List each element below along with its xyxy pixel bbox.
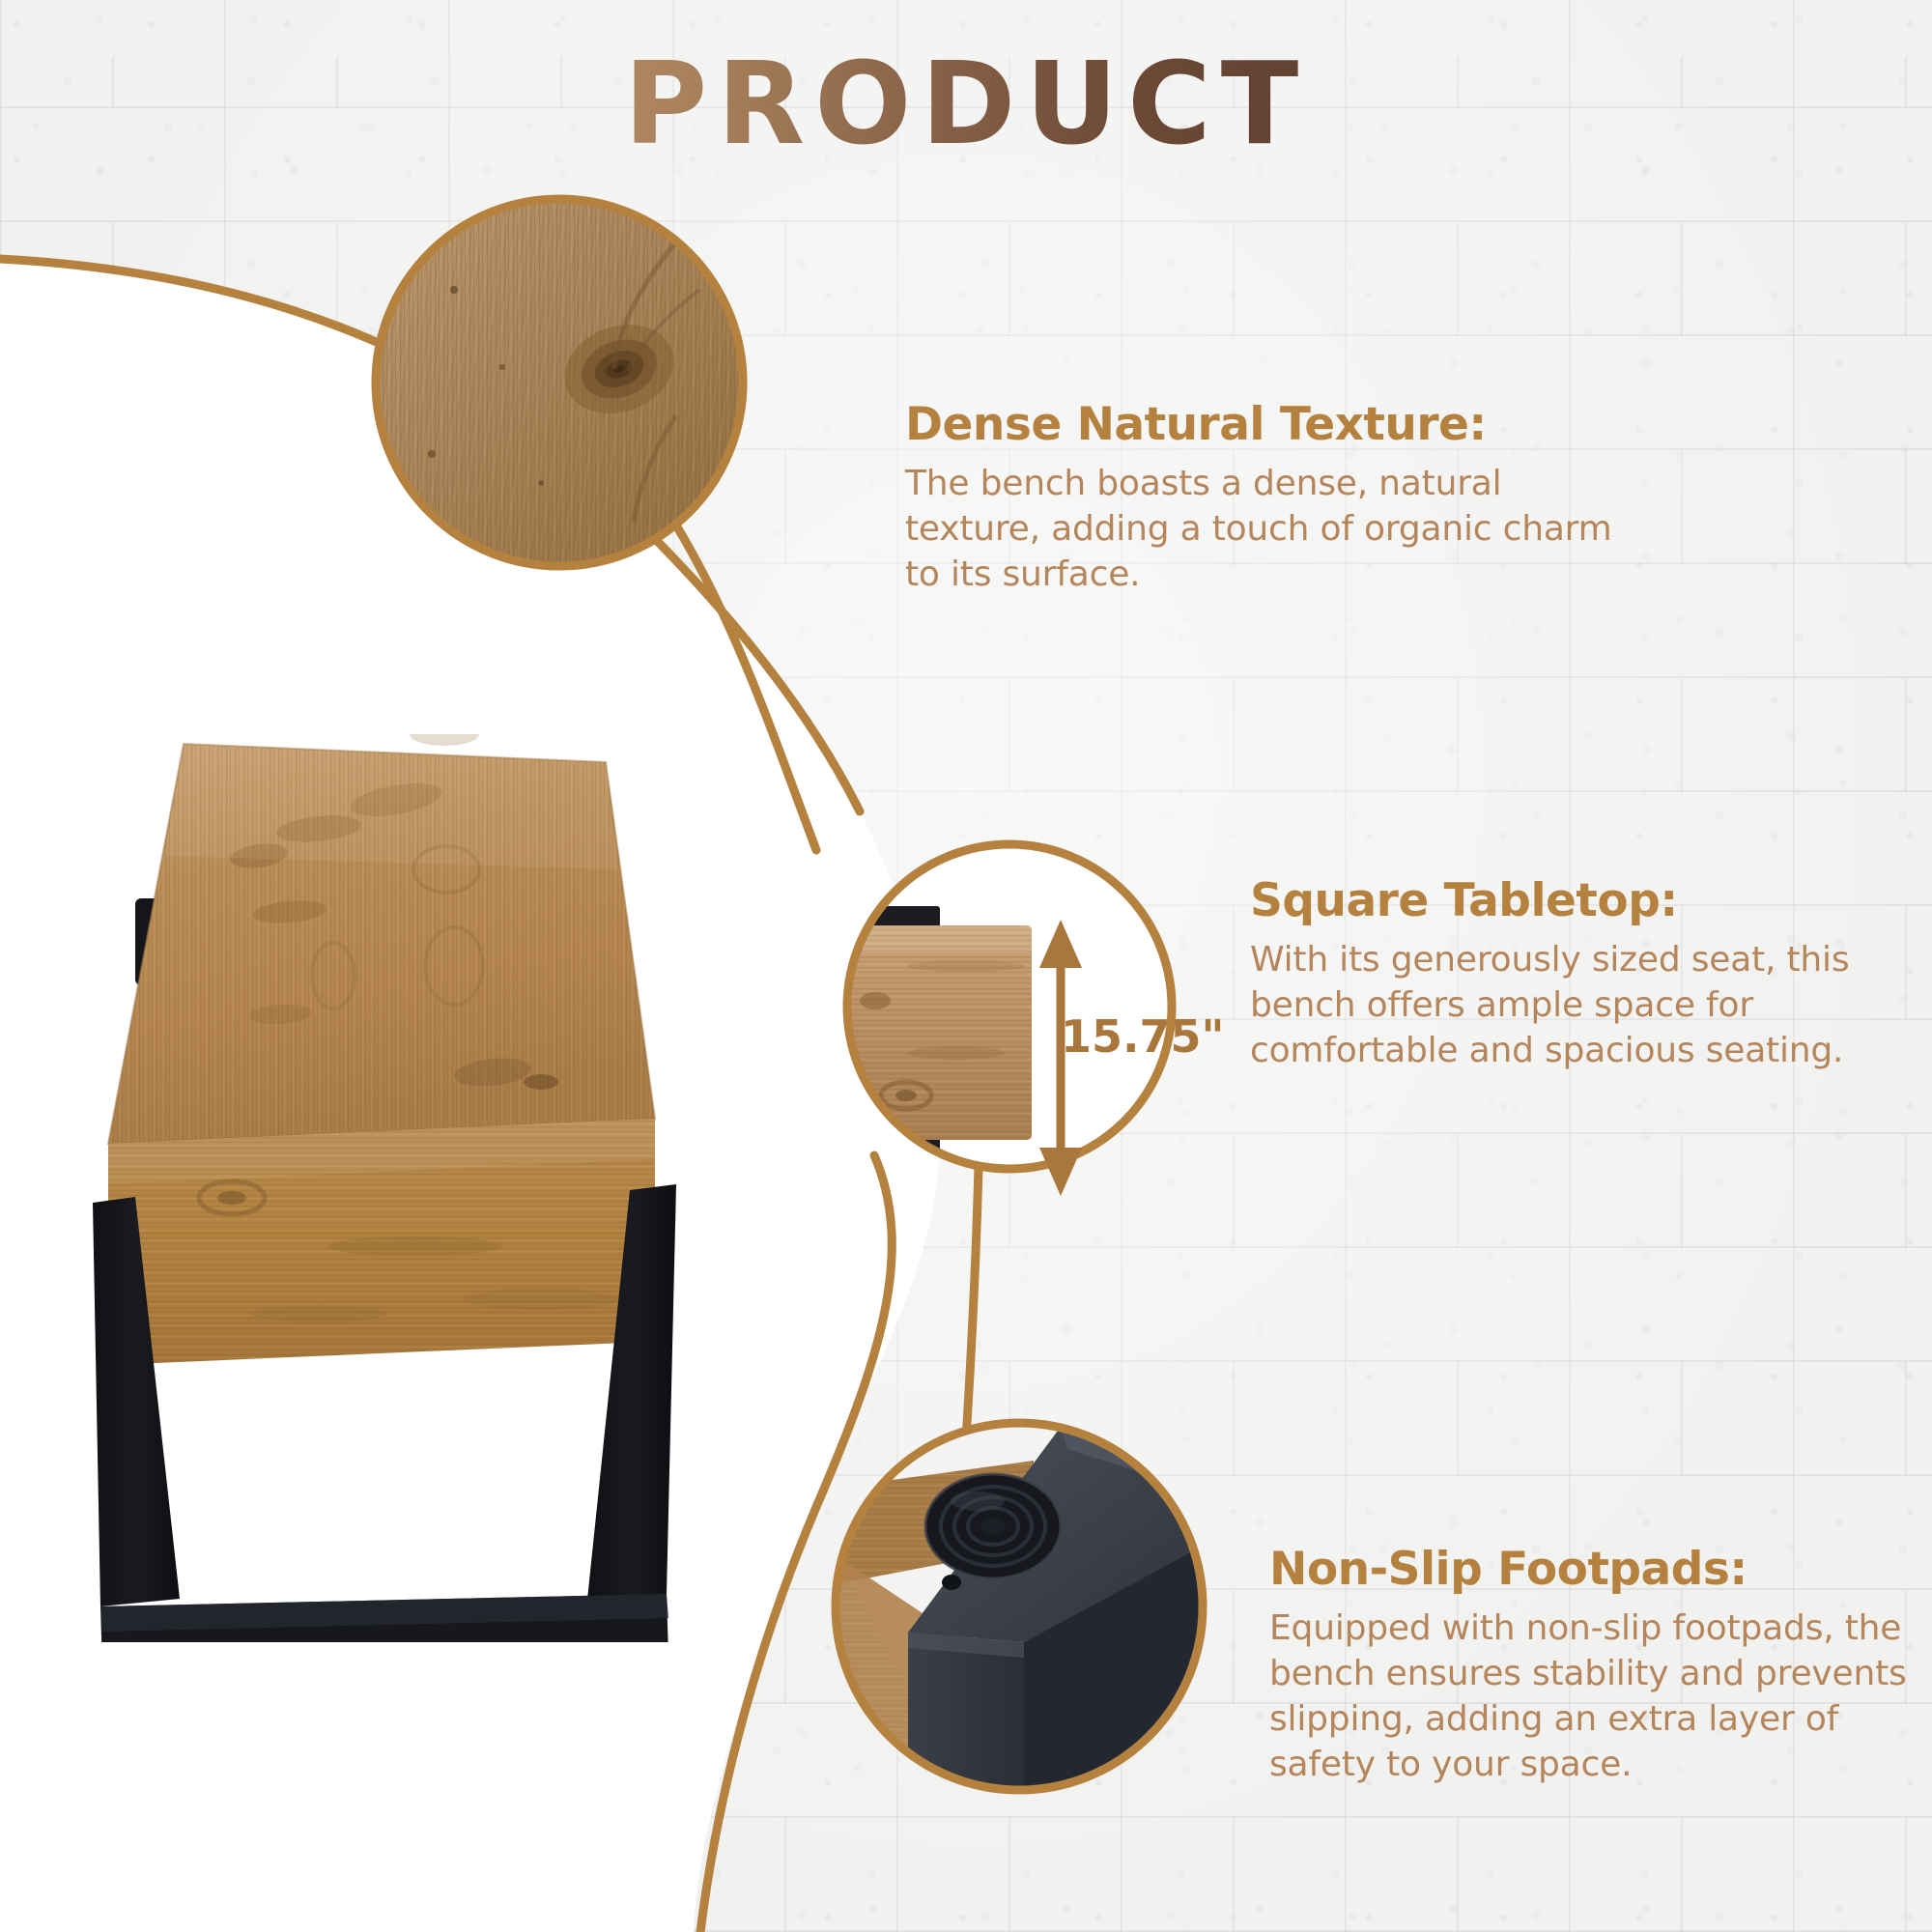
bench-seat-top (108, 723, 655, 1144)
feature-3-heading: Non-Slip Footpads: (1269, 1546, 1926, 1593)
callout-circle-footpads (836, 1423, 1203, 1799)
dimension-label: 15.75" (1061, 1010, 1224, 1063)
page-title: PRODUCT (0, 46, 1932, 160)
feature-2-heading: Square Tabletop: (1250, 877, 1868, 924)
feature-non-slip-footpads: Non-Slip Footpads: Equipped with non-sli… (1269, 1546, 1926, 1788)
feature-dense-natural-texture: Dense Natural Texture: The bench boasts … (905, 401, 1620, 598)
feature-square-tabletop: Square Tabletop: With its generously siz… (1250, 877, 1868, 1074)
callout-circle-dense-texture (376, 199, 743, 566)
feature-1-heading: Dense Natural Texture: (905, 401, 1620, 448)
feature-2-body: With its generously sized seat, this ben… (1250, 938, 1868, 1073)
feature-1-body: The bench boasts a dense, natural textur… (905, 462, 1620, 597)
infographic-canvas: PRODUCT Dense Natural Texture: The bench… (0, 0, 1932, 1932)
bench-seat-front (108, 1119, 655, 1364)
feature-3-body: Equipped with non-slip footpads, the ben… (1269, 1606, 1926, 1787)
connector-line-2 (966, 1166, 979, 1439)
